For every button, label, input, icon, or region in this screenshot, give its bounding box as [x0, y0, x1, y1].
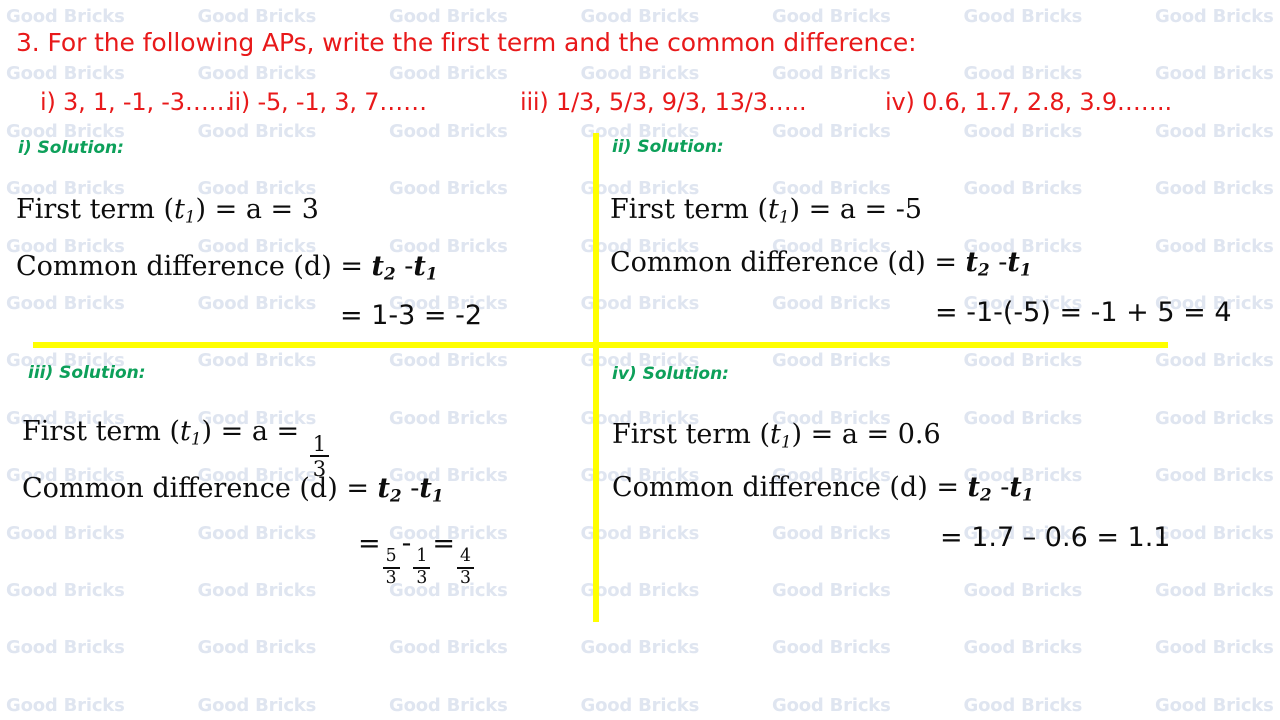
- first-term-prefix-iii: First term (: [22, 416, 180, 447]
- result-minus-iii: -: [402, 528, 412, 559]
- common-difference-line-iii: Common difference (d) = t2 -t1: [22, 473, 444, 506]
- t1-term-iv: t1: [1009, 472, 1033, 503]
- t1-term-iii: t1: [419, 473, 443, 504]
- result-line-iii: =53-13=43: [358, 528, 476, 587]
- t1-term-ii: t1: [1007, 247, 1031, 278]
- first-term-prefix-iv: First term (: [612, 419, 770, 450]
- first-term-variable-i: t1: [174, 194, 196, 225]
- minus-sign-iii: -: [402, 473, 420, 504]
- first-term-line-ii: First term (t1) = a = -5: [610, 194, 922, 227]
- common-difference-line-ii: Common difference (d) = t2 -t1: [610, 247, 1032, 280]
- first-term-variable-iii: t1: [180, 416, 202, 447]
- result-equals2-iii: =: [432, 528, 455, 559]
- sequence-item-i: i) 3, 1, -1, -3……: [40, 88, 232, 116]
- sequence-item-iv: iv) 0.6, 1.7, 2.8, 3.9…….: [885, 88, 1172, 116]
- common-difference-label-i: Common difference (d) =: [16, 251, 372, 282]
- first-term-suffix-i: ) = a = 3: [196, 194, 319, 225]
- solution-label-iii: iii) Solution:: [28, 363, 146, 383]
- t2-term-iii: t2: [378, 473, 402, 504]
- solution-label-iv: iv) Solution:: [612, 364, 729, 384]
- first-term-suffix-iii: ) = a =: [202, 416, 308, 447]
- common-difference-line-iv: Common difference (d) = t2 -t1: [612, 472, 1034, 505]
- t1-term-i: t1: [413, 251, 437, 282]
- result-line-ii: = -1-(-5) = -1 + 5 = 4: [935, 297, 1232, 328]
- first-term-line-iv: First term (t1) = a = 0.6: [612, 419, 941, 452]
- result-fraction-1-iii: 53: [383, 548, 400, 587]
- sequence-list: i) 3, 1, -1, -3…… ii) -5, -1, 3, 7…… iii…: [0, 88, 1280, 120]
- result-equals-iii: =: [358, 528, 381, 559]
- first-term-prefix-ii: First term (: [610, 194, 768, 225]
- page-title: 3. For the following APs, write the firs…: [16, 28, 916, 57]
- solution-label-ii: ii) Solution:: [612, 137, 724, 157]
- t2-term-ii: t2: [966, 247, 990, 278]
- common-difference-label-iv: Common difference (d) =: [612, 472, 968, 503]
- result-fraction-3-iii: 43: [457, 548, 474, 587]
- common-difference-line-i: Common difference (d) = t2 -t1: [16, 251, 438, 284]
- first-term-suffix-ii: ) = a = -5: [790, 194, 923, 225]
- result-line-iv: = 1.7 – 0.6 = 1.1: [940, 522, 1170, 553]
- sequence-item-iii: iii) 1/3, 5/3, 9/3, 13/3…..: [520, 88, 806, 116]
- result-fraction-2-iii: 13: [413, 548, 430, 587]
- minus-sign-iv: -: [992, 472, 1010, 503]
- result-line-i: = 1-3 = -2: [340, 300, 482, 331]
- t2-term-iv: t2: [968, 472, 992, 503]
- first-term-line-i: First term (t1) = a = 3: [16, 194, 319, 227]
- t2-term-i: t2: [372, 251, 396, 282]
- content-layer: 3. For the following APs, write the firs…: [0, 0, 1280, 720]
- first-term-suffix-iv: ) = a = 0.6: [792, 419, 941, 450]
- first-term-variable-iv: t1: [770, 419, 792, 450]
- first-term-prefix-i: First term (: [16, 194, 174, 225]
- first-term-line-iii: First term (t1) = a = 13: [22, 416, 331, 479]
- minus-sign-i: -: [396, 251, 414, 282]
- common-difference-label-iii: Common difference (d) =: [22, 473, 378, 504]
- common-difference-label-ii: Common difference (d) =: [610, 247, 966, 278]
- minus-sign-ii: -: [990, 247, 1008, 278]
- solution-label-i: i) Solution:: [18, 138, 124, 158]
- sequence-item-ii: ii) -5, -1, 3, 7……: [228, 88, 427, 116]
- slide-canvas: Good BricksGood BricksGood BricksGood Br…: [0, 0, 1280, 720]
- first-term-variable-ii: t1: [768, 194, 790, 225]
